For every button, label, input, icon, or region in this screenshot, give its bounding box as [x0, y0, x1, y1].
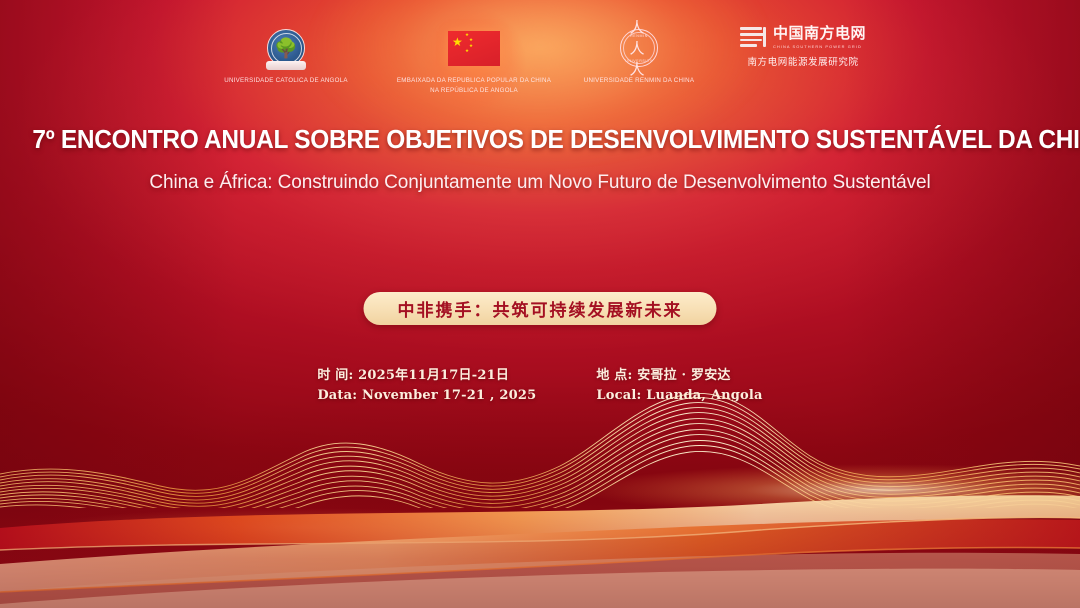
logo-china-southern-power-grid: 中国南方电网 CHINA SOUTHERN POWER GRID 南方电网能源发… — [714, 26, 892, 68]
csg-institute-name: 南方电网能源发展研究院 — [747, 54, 858, 68]
csg-name-cn: 中国南方电网 — [773, 26, 866, 42]
event-date-block: 时 间: 2025年11月17日-21日 Data: November 17-2… — [317, 366, 536, 406]
csg-name-en: CHINA SOUTHERN POWER GRID — [773, 44, 866, 49]
slogan-pill: 中非携手：共筑可持续发展新未来 — [364, 292, 717, 325]
power-grid-icon — [740, 27, 766, 47]
logo-embaixada-da-china: ★ ★ ★ ★ ★ EMBAIXADA DA REPÚBLICA POPULAR… — [384, 26, 564, 95]
logo-caption: UNIVERSIDADE RENMIN DA CHINA — [584, 76, 694, 86]
seal-bottom-text: UNIVERSITY — [625, 59, 653, 63]
date-chinese: 时 间: 2025年11月17日-21日 — [317, 366, 536, 386]
logo-caption: EMBAIXADA DA REPÚBLICA POPULAR DA CHINA … — [397, 76, 551, 95]
subtitle-portuguese: China e África: Construindo Conjuntament… — [0, 172, 1080, 194]
slogan-chinese: 中非携手：共筑可持续发展新未来 — [398, 296, 683, 321]
venue-chinese: 地 点: 安哥拉 · 罗安达 — [596, 366, 762, 386]
event-venue-block: 地 点: 安哥拉 · 罗安达 Local: Luanda, Angola — [596, 366, 762, 406]
date-portuguese: Data: November 17-21 , 2025 — [317, 386, 536, 406]
seal-glyph: 人人人 — [630, 17, 649, 80]
tree-seal-icon: 🌳 — [267, 26, 305, 70]
main-title-chinese: 第七届中国可持续发展年会 — [0, 212, 1080, 280]
china-flag-icon: ★ ★ ★ ★ ★ — [448, 26, 500, 70]
event-details: 时 间: 2025年11月17日-21日 Data: November 17-2… — [0, 366, 1080, 406]
logo-caption: UNIVERSIDADE CATÓLICA DE ANGOLA — [224, 76, 348, 86]
sponsor-logo-strip: 🌳 UNIVERSIDADE CATÓLICA DE ANGOLA ★ ★ ★ … — [0, 26, 1080, 95]
main-title-portuguese: 7º ENCONTRO ANUAL SOBRE OBJETIVOS DE DES… — [32, 124, 1047, 155]
logo-universidade-catolica-de-angola: 🌳 UNIVERSIDADE CATÓLICA DE ANGOLA — [188, 26, 384, 86]
renmin-seal-icon: RENMIN 人人人 UNIVERSITY — [620, 26, 658, 70]
venue-portuguese: Local: Luanda, Angola — [596, 386, 762, 406]
conference-banner: 🌳 UNIVERSIDADE CATÓLICA DE ANGOLA ★ ★ ★ … — [0, 0, 1080, 608]
logo-universidade-renmin: RENMIN 人人人 UNIVERSITY UNIVERSIDADE RENMI… — [564, 26, 714, 86]
